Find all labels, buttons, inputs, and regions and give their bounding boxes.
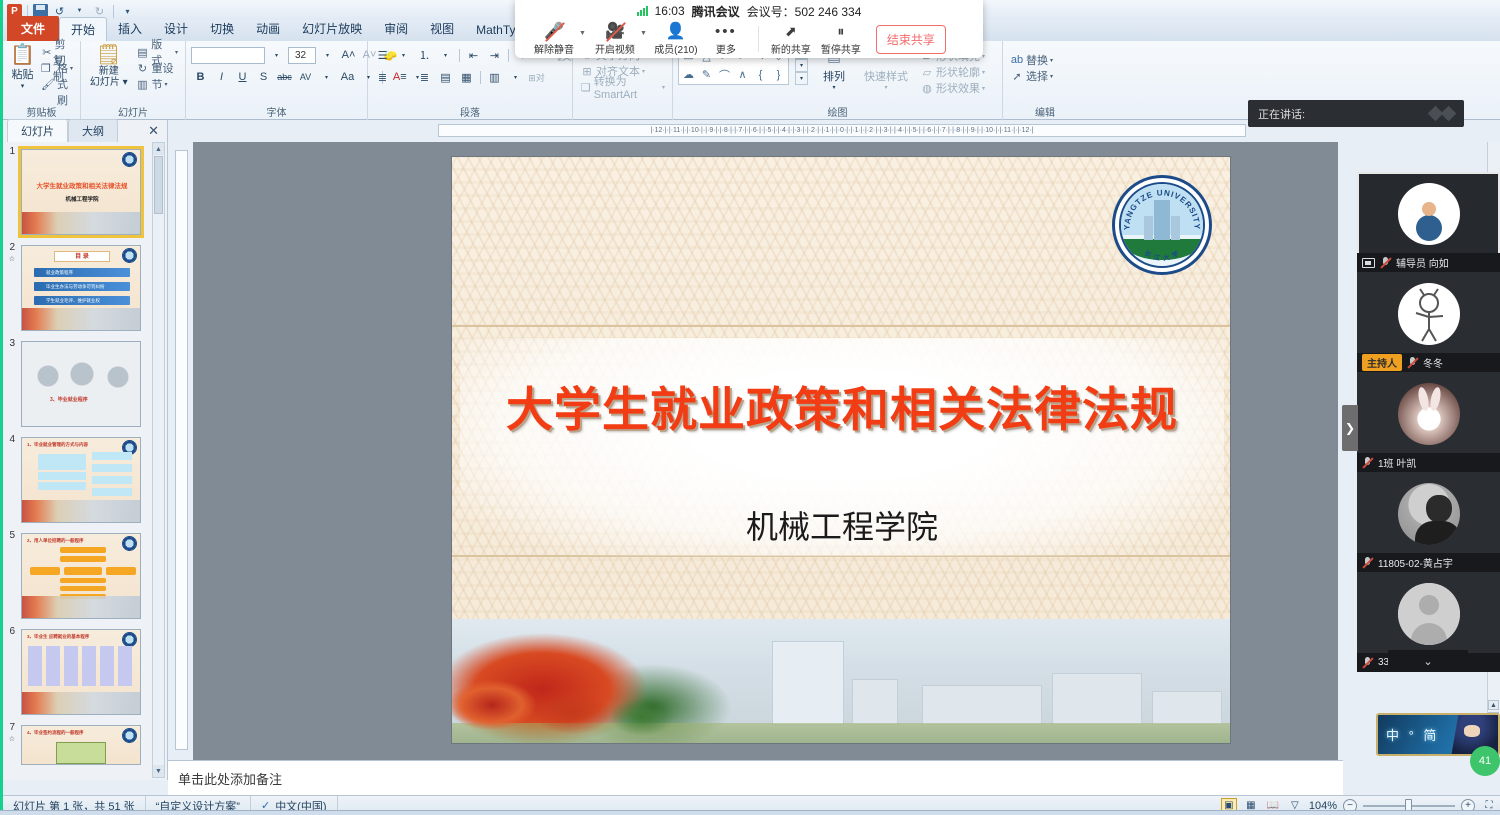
shape-angle-icon[interactable]: ∧ <box>734 66 751 83</box>
reset-label: 重设 <box>152 60 174 76</box>
tab-animations[interactable]: 动画 <box>245 17 291 41</box>
align-center-icon[interactable]: ≡ <box>394 68 413 86</box>
shape-outline-label: 形状轮廓 <box>936 64 980 80</box>
thumb-title: 目 录 <box>54 251 110 262</box>
align-text-icon: ⊞ <box>580 64 594 78</box>
participant-name: 11805-02-黄占宇 <box>1378 555 1453 570</box>
bullets-dropdown-icon[interactable]: ▾ <box>394 46 413 64</box>
thumb-box <box>92 452 132 460</box>
photo-building <box>1152 691 1222 725</box>
thumb-box <box>30 567 60 575</box>
divider <box>113 5 114 18</box>
thumb-photo <box>22 596 140 618</box>
meeting-id: 会议号：502 246 334 <box>747 3 862 20</box>
thumb-box <box>60 547 106 553</box>
tab-file[interactable]: 文件 <box>7 16 59 41</box>
video-off-icon: 🎥 <box>605 23 625 40</box>
shape-brace-right-icon[interactable]: } <box>770 66 787 83</box>
reset-button[interactable]: ↻重设 <box>134 60 181 76</box>
participant-name: 冬冬 <box>1423 355 1443 370</box>
thumbnail-frame: 目 录 就业政策程序 毕业生办法与劳动争可罚纠纷 学生就业毛评、维护就业权 <box>18 242 144 334</box>
thumb-box <box>60 556 106 562</box>
thumb-bar-3: 学生就业毛评、维护就业权 <box>34 296 130 305</box>
copy-icon: ❐ <box>41 61 51 75</box>
tab-view[interactable]: 视图 <box>419 17 465 41</box>
mic-muted-icon <box>1362 457 1373 469</box>
university-logo: YANGTZE UNIVERSITY 长 江 大 学 <box>1112 175 1212 275</box>
shape-curve-icon[interactable]: ⌒ <box>716 66 733 83</box>
change-case-button[interactable]: Aa <box>338 68 357 86</box>
participant-tile-3[interactable]: 11805-02-黄占宇 <box>1357 472 1500 572</box>
thumb-box <box>60 586 106 591</box>
thumb-box <box>38 454 86 462</box>
divider <box>480 71 481 84</box>
tab-slideshow[interactable]: 幻灯片放映 <box>291 17 373 41</box>
man-photo-icon <box>1398 483 1460 545</box>
thumbnail-slide-6[interactable]: 3、毕业生 应聘就业的基本程序 <box>21 629 141 715</box>
group-title-font: 字体 <box>191 107 362 120</box>
thumbnail-item[interactable]: 2☆ 目 录 就业政策程序 毕业生办法与劳动争可罚纠纷 学生就业毛评、维护就业权 <box>3 238 153 334</box>
thumbnail-number: 3 <box>5 338 18 350</box>
participant-tile-4[interactable]: 33 ⌄ <box>1357 572 1500 672</box>
photo-building <box>922 685 1042 725</box>
thumb-col <box>118 646 132 686</box>
pause-share-button[interactable]: ⏸ 暂停共享 <box>816 23 866 56</box>
mic-muted-icon <box>1380 257 1391 269</box>
thumbnail-item[interactable]: 5 2、用人单位招聘的一般程序 <box>3 526 153 622</box>
notes-pane[interactable]: 单击此处添加备注 <box>168 760 1343 795</box>
speaking-label: 正在讲话: <box>1258 106 1305 122</box>
thumb-box <box>92 476 132 484</box>
participant-name-bar: 主持人 冬冬 <box>1357 353 1500 372</box>
thumb-bar-1: 就业政策程序 <box>34 268 130 277</box>
smartart-icon: ❏ <box>580 80 592 94</box>
character-spacing-button[interactable]: AV <box>296 68 315 86</box>
thumbnail-frame: 1、毕业就业管理的方式与内容 <box>18 434 144 526</box>
tab-review[interactable]: 审阅 <box>373 17 419 41</box>
divider <box>758 26 759 52</box>
select-label: 选择 <box>1026 68 1048 84</box>
thumb-logo-icon <box>122 728 137 743</box>
avatar <box>1398 283 1460 345</box>
numbering-dropdown-icon[interactable]: ▾ <box>436 46 455 64</box>
thumb-logo-icon <box>122 536 137 551</box>
shape-effects-icon: ◍ <box>920 81 934 95</box>
game-overlay-text: 中 ° 简 <box>1378 725 1439 744</box>
participants-label: 成员(210) <box>654 41 697 56</box>
stick-figure-icon <box>1398 283 1460 345</box>
photo-building <box>772 641 844 725</box>
participant-name: 1班 叶凯 <box>1378 455 1416 470</box>
thumb-title: 3、毕业生 应聘就业的基本程序 <box>27 634 89 640</box>
group-title-paragraph: 段落 <box>373 107 567 120</box>
increase-font-size-icon[interactable]: A˄ <box>339 46 358 64</box>
cursor-icon: ➚ <box>1010 69 1024 83</box>
participants-icon: 👤 <box>666 23 686 40</box>
thumb-box <box>64 567 102 575</box>
thumb-subtitle: 机械工程学院 <box>26 195 138 203</box>
paste-label: 粘贴 <box>11 66 33 82</box>
group-title-editing: 编辑 <box>1008 107 1082 120</box>
replace-label: 替换 <box>1026 52 1048 68</box>
thumb-box <box>92 488 132 496</box>
format-painter-label: 格式刷 <box>57 60 73 108</box>
logo-inner: YANGTZE UNIVERSITY 长 江 大 学 <box>1119 182 1205 268</box>
speaking-indicator: 正在讲话: <box>1248 100 1464 127</box>
section-label: 节 <box>152 76 163 92</box>
mic-muted-icon <box>1362 557 1373 569</box>
shapes-scroll-down-icon[interactable]: ▾ <box>795 59 808 72</box>
mic-muted-icon <box>1362 657 1373 669</box>
thumbnail-slide-4[interactable]: 1、毕业就业管理的方式与内容 <box>21 437 141 523</box>
pane-tab-strip: 幻灯片 大纲 ✕ <box>3 120 167 142</box>
thumbnail-selected-frame: 大学生就业政策和相关法律法规 机械工程学院 <box>18 146 144 238</box>
mic-muted-icon <box>1407 357 1418 369</box>
section-button[interactable]: ▥节▾ <box>134 76 181 92</box>
more-icon: ••• <box>715 23 737 40</box>
thumb-col <box>28 646 42 686</box>
thumb-col <box>100 646 114 686</box>
ribbon-group-font: ▾ 32 ▾ A˄ A˅ 🧽 B I U S abc AV ▾ <box>186 41 368 120</box>
thumbnail-slide-7[interactable]: 4、毕业签约流程的一般程序 <box>21 725 141 765</box>
justify-icon[interactable]: ▤ <box>436 68 455 86</box>
default-silhouette-icon <box>1398 583 1460 645</box>
thumbnail-frame: 4、毕业签约流程的一般程序 <box>18 722 144 768</box>
more-label: 更多 <box>716 41 736 56</box>
participant-name-bar: 辅导员 向如 <box>1357 253 1500 272</box>
photo-building <box>1052 673 1142 725</box>
ribbon-group-editing: ab替换▾ ➚选择▾ 编辑 <box>1003 41 1087 120</box>
columns-icon[interactable]: ▥ <box>485 68 504 86</box>
photo-building <box>852 679 898 725</box>
person-illustration-icon <box>1416 215 1442 241</box>
new-share-icon: ⬈ <box>785 23 797 40</box>
thumbnail-frame: 3、毕业就业程序 <box>18 338 144 430</box>
participants-button[interactable]: 👤 成员(210) <box>651 23 701 56</box>
slide-subtitle[interactable]: 机械工程学院 <box>452 502 1231 548</box>
shape-outline-button[interactable]: ▱形状轮廓▾ <box>918 64 987 80</box>
replace-button[interactable]: ab替换▾ <box>1008 52 1055 68</box>
windows-taskbar[interactable] <box>0 810 1500 815</box>
layout-button[interactable]: ▤版式▾ <box>134 44 181 60</box>
thumbnail-slide-3[interactable]: 3、毕业就业程序 <box>21 341 141 427</box>
thumbnail-frame: 3、毕业生 应聘就业的基本程序 <box>18 626 144 718</box>
thumb-photo <box>22 308 140 330</box>
slide-campus-photo <box>452 619 1230 743</box>
thumb-box <box>56 742 106 764</box>
thumbnail-item[interactable]: 4 1、毕业就业管理的方式与内容 <box>3 430 153 526</box>
meeting-app-name: 腾讯会议 <box>692 3 740 20</box>
thumb-photo <box>22 212 140 234</box>
tab-transitions[interactable]: 切换 <box>199 17 245 41</box>
thumbnail-number: 6 <box>5 626 18 638</box>
thumbnail-frame: 2、用人单位招聘的一般程序 <box>18 530 144 622</box>
new-slide-icon: 🗒 <box>96 44 121 66</box>
pause-share-icon: ⏸ <box>837 23 844 40</box>
participant-video-strip[interactable]: 辅导员 向如 主持人 冬冬 1班 叶凯 <box>1357 172 1500 672</box>
quick-styles-label: 快速样式 <box>864 68 908 84</box>
expand-participants-button[interactable]: ⌄ <box>1388 650 1468 672</box>
thumb-graphic <box>30 352 134 392</box>
game-overlay-badge[interactable]: 41 <box>1470 746 1500 776</box>
divider <box>459 49 460 62</box>
signal-strength-icon <box>637 6 648 16</box>
thumb-logo-icon <box>122 248 137 263</box>
paste-icon: 📋 <box>10 44 35 66</box>
scroll-up-icon[interactable]: ▲ <box>1488 700 1499 710</box>
thumbnail-item[interactable]: 6 3、毕业生 应聘就业的基本程序 <box>3 622 153 718</box>
thumbnail-item[interactable]: 3 3、毕业就业程序 <box>3 334 153 430</box>
pane-tab-outline[interactable]: 大纲 <box>68 119 118 142</box>
shape-brace-left-icon[interactable]: { <box>752 66 769 83</box>
ribbon-group-slides: 🗒 新建幻灯片 ▾ ▤版式▾ ↻重设 ▥节▾ 幻灯片 <box>81 41 186 120</box>
thumb-bar-2: 毕业生办法与劳动争可罚纠纷 <box>34 282 130 291</box>
thumb-box <box>38 472 86 480</box>
slide-thumbnail-pane: 幻灯片 大纲 ✕ 1 大学生就业政策和相关法律法规 机械工程学院 <box>3 120 168 780</box>
paste-button[interactable]: 📋 粘贴 ▾ <box>8 44 37 90</box>
group-title-spacer <box>578 107 667 120</box>
close-pane-icon[interactable]: ✕ <box>148 123 159 139</box>
meeting-controls-row: 🎤 解除静音 ▼ 🎥 开启视频 ▼ 👤 成员(210) ••• 更多 ⬈ 新的共… <box>515 22 983 56</box>
thumb-col <box>82 646 96 686</box>
thumbnail-scrollbar[interactable]: ▲ ▼ <box>152 142 165 778</box>
new-share-button[interactable]: ⬈ 新的共享 <box>766 23 816 56</box>
convert-smartart-button[interactable]: ❏转换为 SmartArt▾ <box>578 79 667 95</box>
pause-share-label: 暂停共享 <box>821 41 861 56</box>
character-spacing-dropdown-icon[interactable]: ▾ <box>317 68 336 86</box>
slide-editing-canvas[interactable]: YANGTZE UNIVERSITY 长 江 大 学 大学生就业政策和相关法律法… <box>193 142 1338 760</box>
thumb-box <box>106 567 136 575</box>
avatar <box>1398 583 1460 645</box>
format-painter-button[interactable]: 🖌格式刷 <box>39 76 75 92</box>
font-size-input[interactable]: 32 <box>288 47 316 64</box>
more-button[interactable]: ••• 更多 <box>701 23 751 56</box>
align-left-icon[interactable]: ≣ <box>373 68 392 86</box>
paragraph-row-bottom: ≣ ≡ ≣ ▤ ▦ ▥▾ ⊞对 <box>373 68 574 86</box>
thumbnail-list[interactable]: 1 大学生就业政策和相关法律法规 机械工程学院 2☆ <box>3 142 153 780</box>
avatar <box>1398 483 1460 545</box>
increase-indent-icon[interactable]: ⇥ <box>485 46 504 64</box>
shapes-more-icon[interactable]: ▾ <box>795 72 808 85</box>
meeting-info-row: 16:03 腾讯会议 会议号：502 246 334 <box>515 0 983 22</box>
thumb-title: 1、毕业就业管理的方式与内容 <box>27 442 88 448</box>
ribbon-group-clipboard: 📋 粘贴 ▾ ✂剪切 ❐复制▾ 🖌格式刷 剪贴板 <box>3 41 81 120</box>
numbering-icon[interactable]: ⒈ <box>415 46 434 64</box>
columns-dropdown-icon[interactable]: ▾ <box>506 68 525 86</box>
underline-button[interactable]: U <box>233 68 252 86</box>
thumb-logo-icon <box>122 152 137 167</box>
arrange-label: 排列 <box>823 68 845 84</box>
pane-tab-slides[interactable]: 幻灯片 <box>7 119 68 142</box>
thumbnail-number: 4 <box>5 434 18 446</box>
select-button[interactable]: ➚选择▾ <box>1008 68 1055 84</box>
thumb-title: 大学生就业政策和相关法律法规 <box>26 180 138 190</box>
end-share-button[interactable]: 结束共享 <box>876 25 946 54</box>
svg-text:YANGTZE UNIVERSITY: YANGTZE UNIVERSITY <box>1123 188 1202 230</box>
thumb-box <box>92 464 132 472</box>
thumbnail-slide-1[interactable]: 大学生就业政策和相关法律法规 机械工程学院 <box>21 149 141 235</box>
shape-freeform-icon[interactable]: ✎ <box>698 66 715 83</box>
section-icon: ▥ <box>136 77 150 91</box>
unmute-label: 解除静音 <box>534 41 574 56</box>
font-name-input[interactable] <box>191 47 265 64</box>
rabbit-photo-icon <box>1398 383 1460 445</box>
thumbnail-number: 5 <box>5 530 18 542</box>
scroll-down-icon[interactable]: ▼ <box>153 765 164 777</box>
thumb-col <box>64 646 78 686</box>
slide-divider-top <box>452 325 1230 327</box>
shape-cloud-icon[interactable]: ☁ <box>680 66 697 83</box>
start-video-button[interactable]: 🎥 开启视频 <box>590 23 640 56</box>
collapse-video-strip-button[interactable]: ❯ <box>1342 405 1358 451</box>
photo-trees <box>452 665 752 737</box>
shape-effects-label: 形状效果 <box>936 80 980 96</box>
host-badge: 主持人 <box>1362 354 1402 371</box>
new-share-label: 新的共享 <box>771 41 811 56</box>
group-title-drawing: 绘图 <box>678 107 997 120</box>
thumbnail-number: 7☆ <box>5 722 18 746</box>
svg-text:长 江 大 学: 长 江 大 学 <box>1143 248 1181 262</box>
participant-name-bar: 1班 叶凯 <box>1357 453 1500 472</box>
font-size-dropdown-icon[interactable]: ▾ <box>318 46 337 64</box>
bullets-icon[interactable]: ☰ <box>373 46 392 64</box>
thumb-title: 4、毕业签约流程的一般程序 <box>27 730 84 736</box>
logo-text-arc: YANGTZE UNIVERSITY 长 江 大 学 <box>1121 184 1203 266</box>
mic-muted-icon: 🎤 <box>544 23 564 40</box>
tencent-meeting-toolbar: 16:03 腾讯会议 会议号：502 246 334 🎤 解除静音 ▼ 🎥 开启… <box>515 0 983 58</box>
thumb-title: 3、毕业就业程序 <box>50 396 88 403</box>
scrollbar-thumb[interactable] <box>154 156 163 214</box>
participant-name-bar: 11805-02-黄占宇 <box>1357 553 1500 572</box>
thumbnail-slide-5[interactable]: 2、用人单位招聘的一般程序 <box>21 533 141 619</box>
divider <box>508 49 509 62</box>
align-right-icon[interactable]: ≣ <box>415 68 434 86</box>
thumbnail-slide-2[interactable]: 目 录 就业政策程序 毕业生办法与劳动争可罚纠纷 学生就业毛评、维护就业权 <box>21 245 141 331</box>
thumbnail-number: 2☆ <box>5 242 18 266</box>
avatar <box>1398 183 1460 245</box>
audio-wave-icon <box>1430 108 1454 119</box>
unmute-button[interactable]: 🎤 解除静音 <box>529 23 579 56</box>
strikethrough-button[interactable]: abc <box>275 68 294 86</box>
font-name-dropdown-icon[interactable]: ▾ <box>267 46 286 64</box>
tab-insert[interactable]: 插入 <box>107 17 153 41</box>
thumb-photo <box>22 692 140 714</box>
avatar <box>1398 383 1460 445</box>
meeting-time: 16:03 <box>655 4 685 18</box>
thumb-box <box>38 482 86 490</box>
participant-tile-1[interactable]: 主持人 冬冬 <box>1357 272 1500 372</box>
thumbnail-item[interactable]: 7☆ 4、毕业签约流程的一般程序 <box>3 718 153 768</box>
bold-button[interactable]: B <box>191 68 210 86</box>
reset-icon: ↻ <box>136 61 150 75</box>
thumb-title: 2、用人单位招聘的一般程序 <box>27 538 84 544</box>
thumb-col <box>46 646 60 686</box>
screen-share-icon <box>1362 258 1375 268</box>
new-slide-button[interactable]: 🗒 新建幻灯片 ▾ <box>86 44 132 88</box>
current-slide[interactable]: YANGTZE UNIVERSITY 长 江 大 学 大学生就业政策和相关法律法… <box>451 156 1231 744</box>
italic-button[interactable]: I <box>212 68 231 86</box>
participant-tile-0[interactable]: 辅导员 向如 <box>1357 172 1500 272</box>
horizontal-ruler[interactable]: |·12·|·|·11·|·|·10·|·|·9·|·|·8·|·|·7·|·|… <box>438 124 1246 137</box>
convert-smartart-label: 转换为 SmartArt <box>594 73 660 101</box>
vertical-ruler[interactable] <box>175 150 188 750</box>
scissors-icon: ✂ <box>41 45 53 59</box>
video-options-dropdown-icon[interactable]: ▼ <box>640 30 651 48</box>
start-video-label: 开启视频 <box>595 41 635 56</box>
audio-options-dropdown-icon[interactable]: ▼ <box>579 30 590 48</box>
screen-root: P ↺ ▼ ↻ ▾ 文件 开始 插入 设计 切换 动画 幻灯片放映 审阅 视图 … <box>0 0 1500 815</box>
thumb-photo <box>22 500 140 522</box>
slide-title[interactable]: 大学生就业政策和相关法律法规 <box>452 371 1231 440</box>
distribute-icon[interactable]: ▦ <box>457 68 476 86</box>
layout-icon: ▤ <box>136 45 150 59</box>
align-text-icon[interactable]: ⊞对 <box>527 68 546 86</box>
paintbrush-icon: 🖌 <box>41 77 55 91</box>
replace-icon: ab <box>1010 53 1024 67</box>
thumbnail-item[interactable]: 1 大学生就业政策和相关法律法规 机械工程学院 <box>3 142 153 238</box>
decrease-indent-icon[interactable]: ⇤ <box>464 46 483 64</box>
shadow-button[interactable]: S <box>254 68 273 86</box>
shape-effects-button[interactable]: ◍形状效果▾ <box>918 80 987 96</box>
new-slide-label: 新建幻灯片 ▾ <box>90 66 128 88</box>
scroll-up-icon[interactable]: ▲ <box>153 143 164 155</box>
thumb-box <box>38 462 86 470</box>
thumbnail-number: 1 <box>5 146 18 158</box>
participant-tile-2[interactable]: 1班 叶凯 <box>1357 372 1500 472</box>
shape-outline-icon: ▱ <box>920 65 934 79</box>
thumb-box <box>60 578 106 583</box>
thumb-logo-icon <box>122 632 137 647</box>
participant-name: 辅导员 向如 <box>1396 255 1449 270</box>
